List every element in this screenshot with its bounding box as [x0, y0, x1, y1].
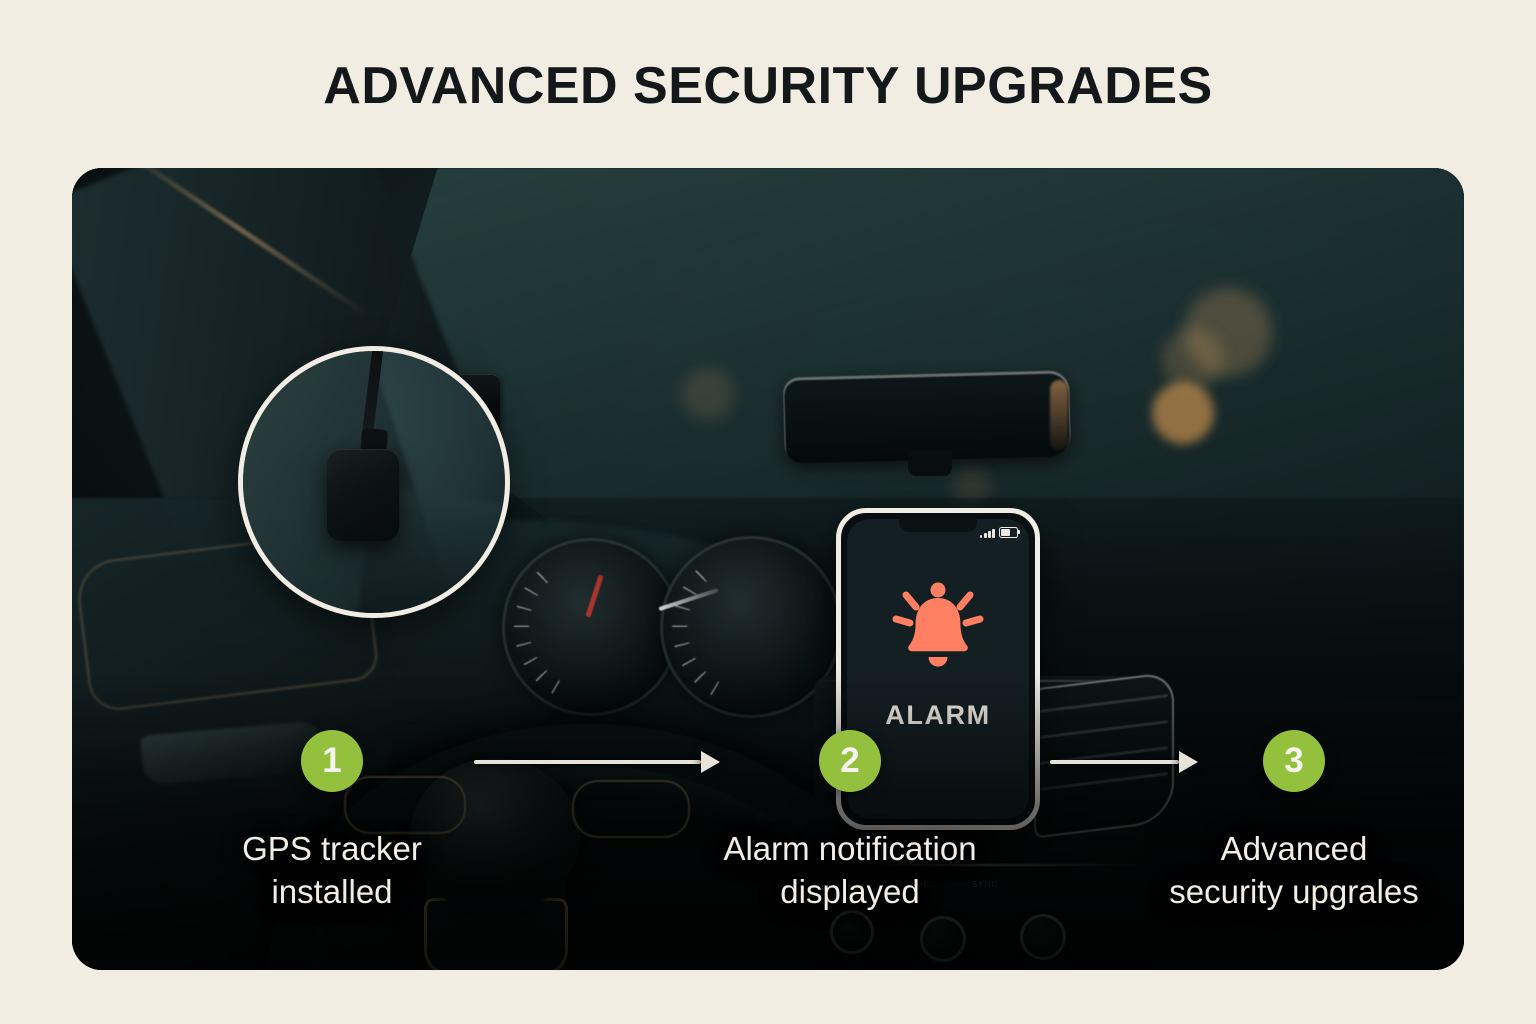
battery-icon: [999, 527, 1018, 538]
climate-knob: [830, 910, 874, 954]
magnifier-circle: [238, 346, 510, 618]
vent-louver: [1040, 694, 1168, 713]
step-2-caption: Alarm notification displayed: [660, 828, 1040, 914]
signal-bars-icon: [980, 529, 995, 539]
mirror-trim: [1050, 380, 1068, 450]
climate-knob: [920, 916, 966, 962]
bell-icon: [884, 579, 992, 676]
page-title: ADVANCED SECURITY UPGRADES: [0, 56, 1536, 116]
battery-fill: [1001, 529, 1010, 536]
step-1-badge: 1: [301, 730, 363, 792]
alarm-label: ALARM: [885, 700, 990, 731]
step-2: 2 Alarm notification displayed: [660, 730, 1040, 914]
phone-notch: [899, 519, 977, 532]
mirror-stem: [908, 450, 952, 476]
bokeh-light: [1162, 328, 1224, 390]
infographic-photo-card: AM FM VOL A/C SYNC: [72, 168, 1464, 970]
magnified-gps-tracker: [327, 449, 399, 541]
step-1-caption: GPS tracker installed: [142, 828, 522, 914]
gauge-ticks: [514, 550, 668, 704]
gauge-ticks: [672, 548, 830, 706]
step-2-badge: 2: [819, 730, 881, 792]
tachometer-gauge: [502, 538, 680, 716]
step-1: 1 GPS tracker installed: [142, 730, 522, 914]
step-3-caption: Advanced security upgrales: [1104, 828, 1464, 914]
bokeh-light: [682, 368, 734, 420]
step-3-badge: 3: [1263, 730, 1325, 792]
step-3: 3 Advanced security upgrales: [1104, 730, 1464, 914]
phone-status-bar: [980, 527, 1018, 538]
climate-knob: [1020, 914, 1066, 960]
bokeh-light: [1152, 382, 1214, 444]
